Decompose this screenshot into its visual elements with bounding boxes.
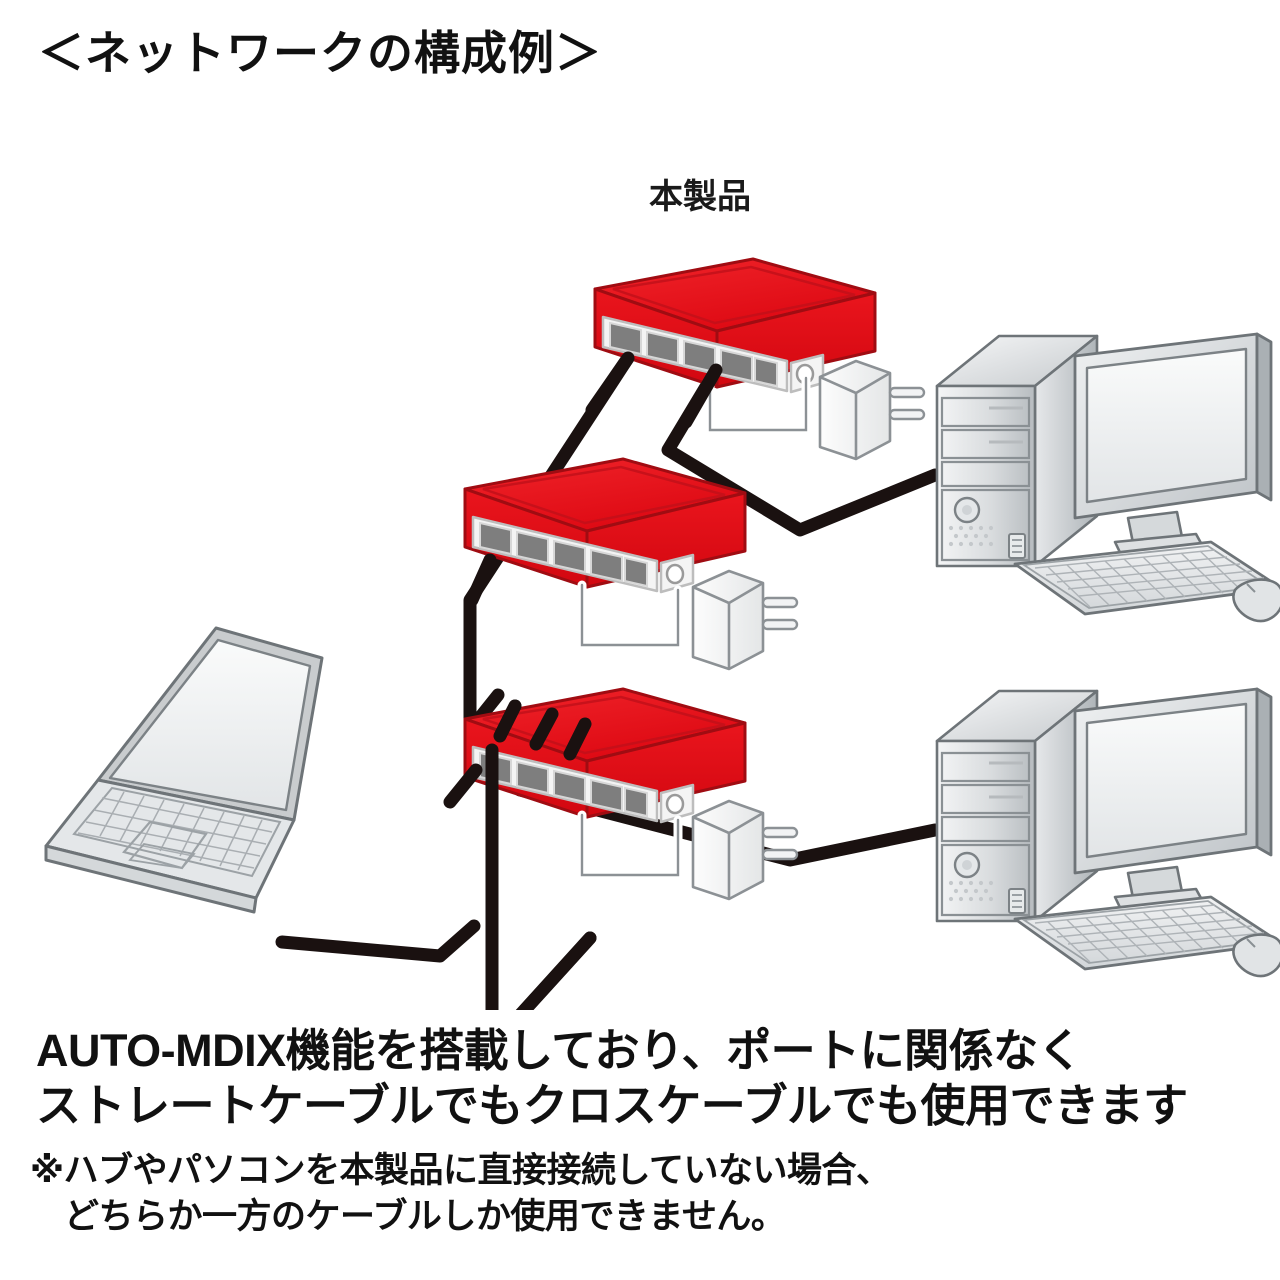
network-diagram: 本製品 [0, 130, 1280, 1010]
cable-stub-middle-port1 [472, 560, 490, 600]
cable-laptop-to-switch-bottom [282, 926, 474, 956]
figure-root: ＜ネットワークの構成例＞ [0, 0, 1280, 1280]
caption-block: AUTO-MDIX機能を搭載しており、ポートに関係なく ストレートケーブルでもク… [36, 1024, 1256, 1134]
power-cable-middle-outline [582, 585, 678, 645]
ac-adapter-bottom [693, 801, 797, 899]
note-line-2: どちらか一方のケーブルしか使用できません。 [30, 1194, 1260, 1240]
note-line-1: ※ハブやパソコンを本製品に直接接続していない場合、 [30, 1148, 1260, 1194]
cable-stub-top-port2 [592, 358, 628, 410]
cable-stub-bottom-port1 [450, 770, 476, 802]
page-title: ＜ネットワークの構成例＞ [38, 30, 602, 76]
ac-adapter-top [820, 361, 924, 459]
power-cable-middle [582, 585, 678, 645]
ac-adapter-middle [693, 571, 797, 669]
desktop-computer-bottom[interactable] [937, 689, 1280, 976]
cable-layer-back [282, 358, 935, 1010]
note-block: ※ハブやパソコンを本製品に直接接続していない場合、 どちらか一方のケーブルしか使… [30, 1148, 1260, 1240]
desktop-computer-top[interactable] [937, 334, 1280, 621]
laptop-computer[interactable] [46, 628, 322, 912]
caption-line-2: ストレートケーブルでもクロスケーブルでも使用できます [36, 1079, 1256, 1134]
product-label: 本製品 [649, 178, 751, 216]
caption-line-1: AUTO-MDIX機能を搭載しており、ポートに関係なく [36, 1024, 1256, 1079]
network-switch-middle[interactable] [465, 459, 745, 592]
